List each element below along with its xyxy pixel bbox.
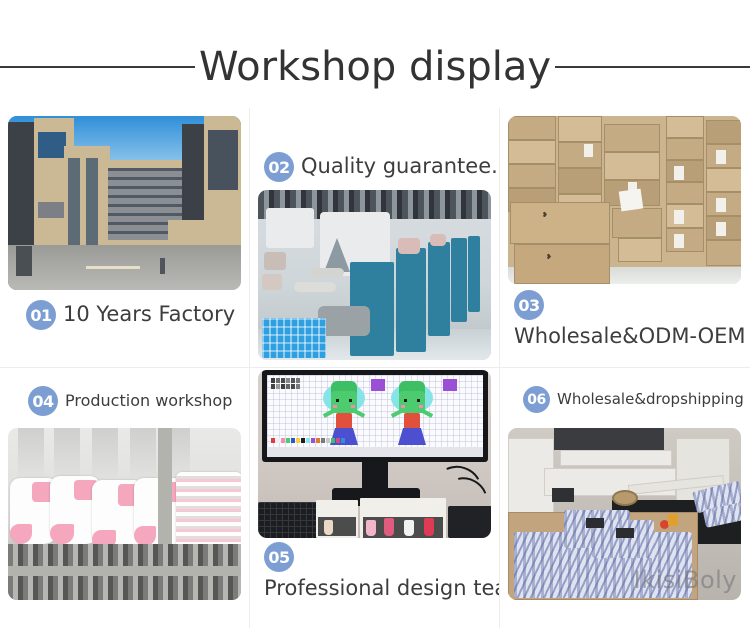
carton-stack-left-1 — [508, 116, 556, 140]
carton-right-1 — [666, 116, 704, 138]
workshop-caption-05: Professional design team — [264, 577, 500, 600]
workshop-cell-05[interactable]: 05 Professional design team — [250, 368, 500, 628]
color-swatch — [316, 438, 320, 443]
carton-stack-left-3 — [508, 164, 556, 188]
tool-swatch — [296, 378, 300, 383]
person-figure — [160, 258, 165, 274]
workshop-cell-03[interactable]: ❥ ❥ 03 Wholesale&ODM-OEM — [500, 108, 750, 368]
color-swatch — [326, 438, 330, 443]
carton-center-5 — [618, 238, 662, 262]
character-eye-left — [336, 399, 339, 402]
workshop-caption-04: Production workshop — [65, 392, 232, 410]
tape-roll — [612, 490, 638, 506]
sock-pile-1 — [398, 238, 420, 254]
carton-center-1 — [604, 124, 660, 152]
keyboard — [258, 502, 320, 538]
pipe-duct — [294, 282, 336, 292]
character-arm-right — [352, 408, 365, 418]
sock-toe-1 — [10, 524, 32, 544]
carton-right-5 — [666, 204, 704, 228]
mousepad-area — [448, 506, 491, 538]
barrier-gate — [86, 266, 140, 269]
carton-label-7 — [584, 144, 593, 157]
character-arm-left — [391, 408, 404, 418]
carton-label-4 — [716, 150, 726, 164]
workshop-caption-03: Wholesale&ODM-OEM — [514, 325, 746, 348]
carton-foreground-top — [510, 202, 610, 244]
workshop-cell-01[interactable]: 01 10 Years Factory — [0, 108, 250, 368]
workshop-label-03: 03 Wholesale&ODM-OEM — [508, 290, 750, 348]
amber-indicator — [668, 514, 678, 526]
carton-label-6 — [716, 222, 726, 236]
sock-pile-2 — [430, 234, 446, 246]
window-tower-band — [68, 158, 80, 254]
carton-logo-2: ❥ — [546, 254, 552, 261]
character-arm-left — [323, 408, 336, 418]
workshop-label-02: 02 Quality guarantee. — [258, 152, 500, 182]
sock-stack-right — [176, 472, 241, 554]
tool-swatch — [271, 378, 275, 383]
sock-toe-4 — [134, 526, 156, 546]
carton-foreground-bottom — [514, 244, 610, 284]
character-eye-left — [404, 399, 407, 402]
carton-stack-left-7 — [558, 168, 602, 194]
page-header: Workshop display — [0, 34, 750, 100]
white-wrap-sheet — [619, 189, 644, 212]
carton-label-3 — [674, 234, 684, 248]
carton-label-2 — [674, 210, 684, 224]
window-tower-band2 — [86, 158, 98, 254]
needle-bed-row — [8, 544, 241, 566]
yarn-roll-2 — [262, 274, 282, 290]
window-right-band — [208, 130, 238, 190]
character-top — [336, 413, 352, 429]
workshop-caption-06: Wholesale&dropshipping — [557, 391, 744, 408]
needle-bed-row-2 — [8, 576, 241, 600]
tool-swatch — [276, 384, 280, 389]
color-swatch — [296, 438, 300, 443]
warehouse-cartons-photo: ❥ ❥ — [508, 116, 741, 284]
workshop-caption-02: Quality guarantee. — [301, 155, 498, 178]
workshop-cell-04[interactable]: 04 Production workshop — [0, 368, 250, 628]
pipe-duct-2 — [310, 268, 344, 277]
factory-building-photo — [8, 116, 241, 290]
gatehouse — [16, 246, 32, 276]
machine-body-2 — [396, 248, 426, 352]
workshop-label-06: 06 Wholesale&dropshipping — [517, 386, 750, 413]
color-swatch — [336, 438, 340, 443]
character-eye-right — [349, 399, 352, 402]
design-sheet-left — [316, 500, 358, 538]
sock-toe-2 — [50, 524, 74, 544]
badge-number-01: 01 — [26, 300, 56, 330]
machine-rail — [8, 566, 241, 576]
design-motif-2 — [443, 379, 457, 391]
character-eye-right — [417, 399, 420, 402]
color-swatch — [331, 438, 335, 443]
packing-line-photo: IkisiBoly — [508, 428, 741, 600]
color-swatch — [286, 438, 290, 443]
sample-sock-2 — [384, 518, 394, 536]
color-swatch — [311, 438, 315, 443]
carton-right-6 — [666, 228, 704, 252]
tool-swatch — [276, 378, 280, 383]
carton-label-1 — [674, 166, 684, 180]
control-box — [552, 488, 574, 502]
tool-swatch — [286, 384, 290, 389]
badge-number-06: 06 — [523, 386, 550, 413]
badge-number-04: 04 — [28, 386, 58, 416]
sample-sock-1 — [366, 520, 376, 536]
carton-right-4 — [666, 182, 704, 204]
title-rule-left — [0, 66, 195, 68]
character-arm-right — [420, 408, 433, 418]
carton-logo-1: ❥ — [542, 212, 548, 219]
workshop-label-01: 01 10 Years Factory — [20, 300, 241, 330]
tool-palette — [271, 378, 303, 389]
tool-swatch — [281, 384, 285, 389]
tool-swatch — [286, 378, 290, 383]
carton-center-2 — [604, 152, 660, 180]
machine-roller-bar — [560, 450, 672, 466]
carton-stack-left-2 — [508, 140, 556, 164]
badge-number-03: 03 — [514, 290, 544, 320]
character-top — [404, 413, 420, 429]
machine-body-5 — [468, 236, 480, 312]
color-palette-bar — [271, 438, 345, 443]
tool-swatch — [296, 384, 300, 389]
color-swatch — [341, 438, 345, 443]
carton-stack-left-6 — [558, 142, 602, 168]
color-swatch — [301, 438, 305, 443]
workshop-label-04: 04 Production workshop — [22, 386, 238, 416]
bundle-tab-2 — [616, 528, 634, 538]
character-skirt — [398, 428, 426, 445]
machine-body-4 — [451, 238, 467, 322]
color-swatch — [271, 438, 275, 443]
tool-swatch — [271, 384, 275, 389]
bundle-tab-1 — [586, 518, 604, 528]
color-swatch — [291, 438, 295, 443]
design-monitor-photo — [258, 370, 491, 538]
badge-number-02: 02 — [264, 152, 294, 182]
color-swatch — [321, 438, 325, 443]
design-character-2 — [389, 381, 435, 447]
tool-swatch — [291, 384, 295, 389]
carton-stack-left-5 — [558, 116, 602, 142]
window-left-1 — [38, 132, 66, 158]
sample-sock-5 — [324, 520, 333, 535]
screen-status-bar — [267, 447, 483, 457]
knitting-machines-photo — [258, 190, 491, 360]
workshop-grid: 01 10 Years Factory 02 Quality guarantee… — [0, 108, 750, 628]
page-title: Workshop display — [195, 47, 555, 87]
carton-right-9 — [706, 168, 741, 192]
tool-swatch — [291, 378, 295, 383]
carton-label-5 — [716, 198, 726, 212]
color-swatch — [281, 438, 285, 443]
sock-boarding-photo — [8, 428, 241, 600]
carton-right-7 — [706, 120, 741, 144]
monitor-screen — [262, 370, 488, 462]
color-swatch — [306, 438, 310, 443]
yarn-roll — [264, 252, 286, 270]
title-rule-right — [555, 66, 750, 68]
workshop-label-05: 05 Professional design team — [258, 542, 500, 600]
carton-right-12 — [706, 240, 741, 266]
sample-sock-3 — [404, 520, 414, 536]
blue-crate — [262, 318, 326, 358]
workshop-cell-02[interactable]: 02 Quality guarantee. — [250, 108, 500, 368]
design-motif-1 — [371, 379, 385, 391]
workshop-caption-01: 10 Years Factory — [63, 303, 235, 326]
tool-swatch — [281, 378, 285, 383]
color-swatch — [276, 438, 280, 443]
workshop-cell-06[interactable]: 06 Wholesale&dropshipping IkisiBoly — [500, 368, 750, 628]
yarn-cone — [324, 238, 350, 272]
carton-center-4 — [612, 208, 662, 238]
sample-sock-4 — [424, 518, 434, 536]
badge-number-05: 05 — [264, 542, 294, 572]
window-left-2 — [38, 202, 64, 218]
carton-right-3 — [666, 160, 704, 182]
machine-head-2 — [266, 208, 314, 248]
machine-body-3 — [428, 242, 450, 336]
carton-right-2 — [666, 138, 704, 160]
machine-housing-top — [554, 428, 664, 450]
